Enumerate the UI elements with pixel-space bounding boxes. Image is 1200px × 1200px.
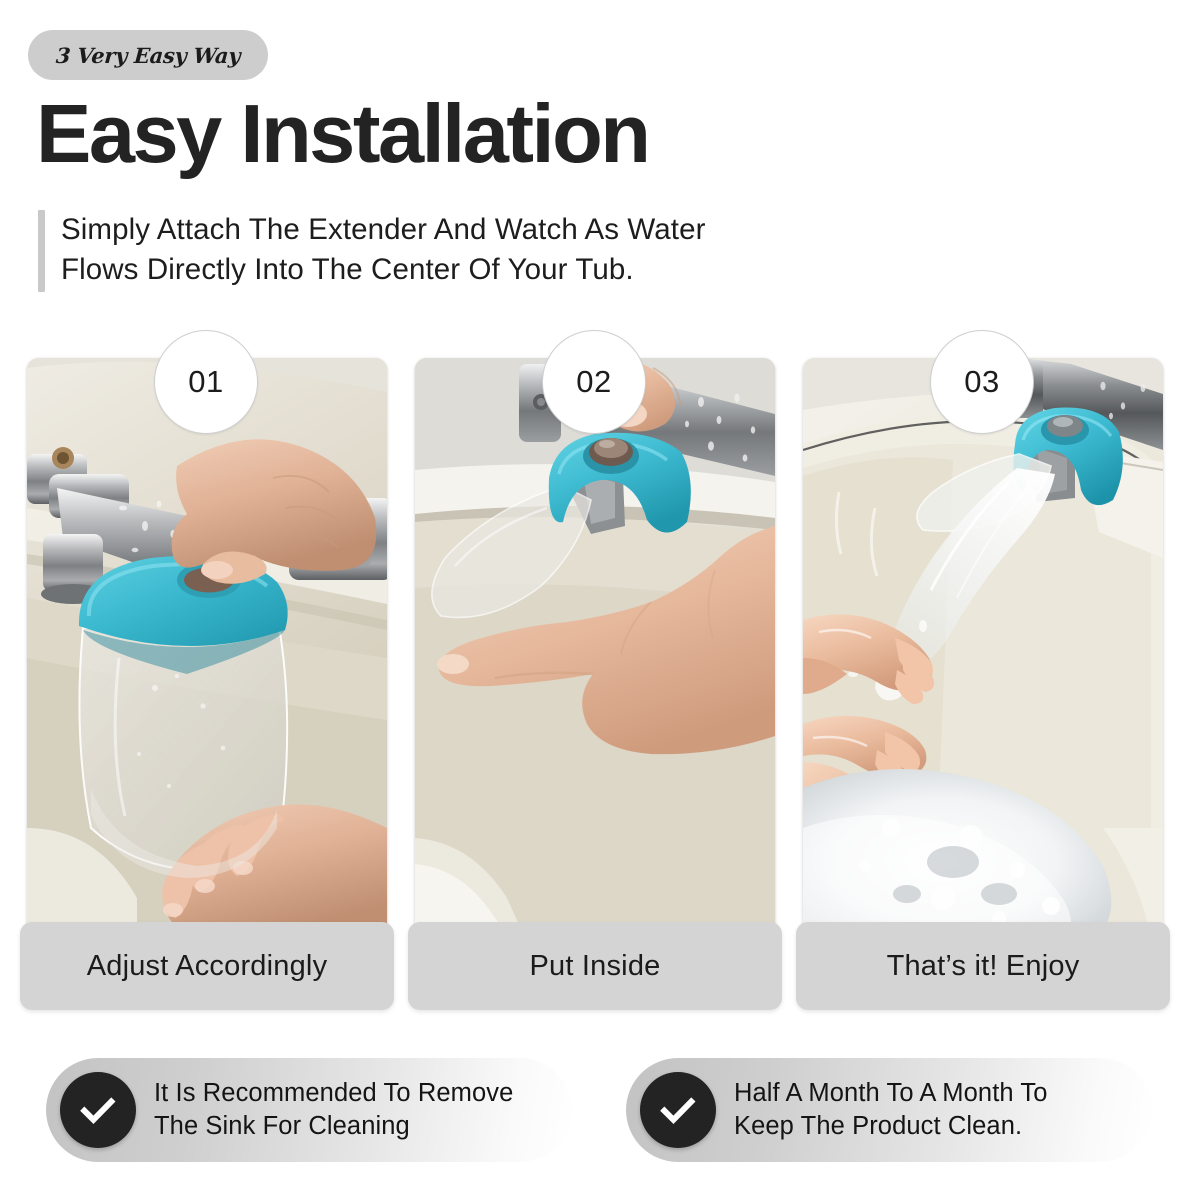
step-card-01: 01 Adjust Accordingly [20,330,394,1020]
step-caption-bar-02: Put Inside [408,922,782,1010]
step-photo-01 [27,358,387,938]
steps-row: 01 Adjust Accordingly [0,330,1200,1020]
check-circle-icon-1 [60,1072,136,1148]
tip-bar-1: It Is Recommended To Remove The Sink For… [46,1058,572,1162]
step-card-02: 02 Put Inside [408,330,782,1020]
step-number-badge-01: 01 [154,330,258,434]
tip-text-1: It Is Recommended To Remove The Sink For… [154,1077,513,1142]
photo-illustration-02 [415,358,775,938]
step-number-badge-03: 03 [930,330,1034,434]
photo-illustration-03 [803,358,1163,938]
badge-label: 3 Very Easy Way [55,43,241,68]
step-number-03: 03 [964,364,999,400]
photo-illustration-01 [27,358,387,938]
step-number-02: 02 [576,364,611,400]
step-caption-bar-01: Adjust Accordingly [20,922,394,1010]
step-caption-02: Put Inside [530,950,661,983]
step-caption-03: That’s it! Enjoy [887,950,1080,983]
subtitle-block: Simply Attach The Extender And Watch As … [38,210,706,292]
step-number-01: 01 [188,364,223,400]
tips-row: It Is Recommended To Remove The Sink For… [0,1058,1200,1170]
check-circle-icon-2 [640,1072,716,1148]
badge-pill: 3 Very Easy Way [28,30,268,80]
page-title: Easy Installation [36,92,649,175]
step-photo-03 [803,358,1163,938]
check-icon-2 [657,1089,699,1131]
tip-text-2: Half A Month To A Month To Keep The Prod… [734,1077,1048,1142]
step-caption-bar-03: That’s it! Enjoy [796,922,1170,1010]
infographic-page: 3 Very Easy Way Easy Installation Simply… [0,0,1200,1200]
accent-bar [38,210,45,292]
tip-bar-2: Half A Month To A Month To Keep The Prod… [626,1058,1152,1162]
step-number-badge-02: 02 [542,330,646,434]
step-card-03: 03 That’s it! Enjoy [796,330,1170,1020]
subtitle-text: Simply Attach The Extender And Watch As … [61,210,706,291]
step-caption-01: Adjust Accordingly [87,950,328,983]
step-photo-02 [415,358,775,938]
check-icon-1 [77,1089,119,1131]
